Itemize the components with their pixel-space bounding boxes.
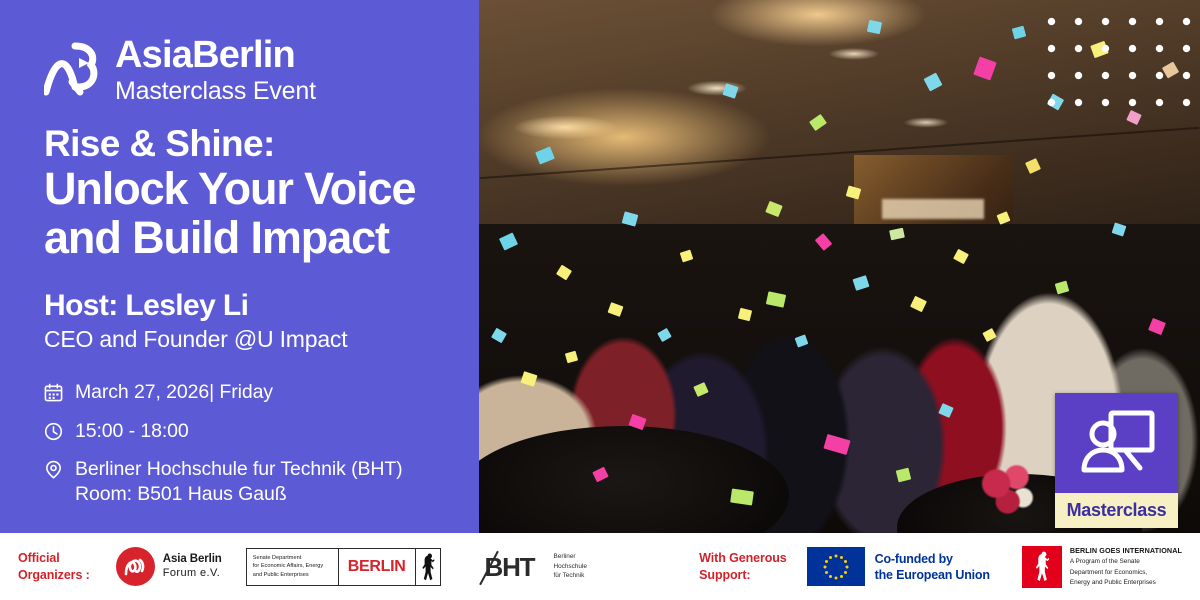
- eu-funding-logo: Co-funded by the European Union: [807, 547, 990, 586]
- berlin-bear-icon: [416, 549, 440, 585]
- title-line-2: Unlock Your Voice: [44, 164, 453, 214]
- detail-date: March 27, 2026| Friday: [44, 380, 453, 405]
- detail-time: 15:00 - 18:00: [44, 419, 453, 444]
- bgi-line1: A Program of the Senate: [1070, 557, 1182, 566]
- bht-line2: Hochschule: [554, 562, 587, 572]
- calendar-icon: [44, 383, 63, 402]
- berlin-goes-international-logo: BERLIN GOES INTERNATIONAL A Program of t…: [1022, 546, 1182, 588]
- senate-department-logo: Senate Department for Economic Affairs, …: [246, 548, 441, 586]
- masterclass-badge-bottom: Masterclass: [1055, 493, 1178, 528]
- photo-flowers: [977, 458, 1042, 522]
- senate-line2: for Economic Affairs, Energy: [253, 562, 332, 570]
- eu-flag-icon: [807, 547, 865, 586]
- masterclass-badge: Masterclass: [1055, 393, 1178, 528]
- title-line-3: and Build Impact: [44, 213, 453, 263]
- asiaberlin-logo-icon: [44, 38, 106, 100]
- polka-dot-overlay: [1030, 0, 1200, 108]
- bgi-line2: Department for Economics,: [1070, 568, 1182, 577]
- eu-line1: Co-funded by: [875, 551, 990, 567]
- senate-line1: Senate Department: [253, 554, 332, 562]
- organizers-label-line2: Organizers :: [18, 567, 90, 583]
- presenter-whiteboard-icon: [1078, 407, 1156, 479]
- bht-line1: Berliner: [554, 552, 587, 562]
- masterclass-label: Masterclass: [1067, 500, 1167, 521]
- detail-location: Berliner Hochschule fur Technik (BHT) Ro…: [44, 457, 453, 507]
- info-panel: AsiaBerlin Masterclass Event Rise & Shin…: [0, 0, 479, 533]
- detail-date-text: March 27, 2026| Friday: [75, 380, 273, 405]
- host-role: CEO and Founder @U Impact: [44, 326, 453, 353]
- berlin-bear-white-icon: [1022, 546, 1062, 588]
- footer-supporters: With Generous Support:: [699, 546, 1200, 588]
- bgi-title: BERLIN GOES INTERNATIONAL: [1070, 546, 1182, 556]
- event-photo: Masterclass: [479, 0, 1200, 533]
- detail-room-text: Room: B501 Haus Gauß: [75, 482, 403, 507]
- event-banner: AsiaBerlin Masterclass Event Rise & Shin…: [0, 0, 1200, 600]
- senate-text: Senate Department for Economic Affairs, …: [247, 549, 339, 585]
- event-title: Rise & Shine: Unlock Your Voice and Buil…: [44, 124, 453, 263]
- detail-venue-text: Berliner Hochschule fur Technik (BHT): [75, 457, 403, 482]
- event-details: March 27, 2026| Friday 15:00 - 18:00 Ber…: [44, 380, 453, 507]
- masterclass-badge-top: [1055, 393, 1178, 493]
- organizers-label-line1: Official: [18, 550, 90, 566]
- detail-time-text: 15:00 - 18:00: [75, 419, 189, 444]
- organizers-label: Official Organizers :: [18, 550, 90, 583]
- bht-logo: BHT Berliner Hochschule für Technik: [485, 552, 587, 582]
- bht-text: Berliner Hochschule für Technik: [554, 552, 587, 582]
- support-label-line1: With Generous: [699, 550, 786, 566]
- asia-berlin-forum-logo: Asia Berlin Forum e.V.: [116, 547, 222, 586]
- asia-berlin-forum-icon: [116, 547, 155, 586]
- footer-organizers: Official Organizers : Asia Berlin Forum …: [0, 547, 587, 586]
- asia-berlin-line2: Forum e.V.: [163, 567, 222, 581]
- clock-icon: [44, 422, 63, 441]
- sponsor-footer: Official Organizers : Asia Berlin Forum …: [0, 533, 1200, 600]
- title-line-1: Rise & Shine:: [44, 124, 453, 164]
- brand-logo: AsiaBerlin Masterclass Event: [44, 36, 453, 104]
- bgi-line3: Energy and Public Enterprises: [1070, 578, 1182, 587]
- location-pin-icon: [44, 460, 63, 479]
- host-name: Host: Lesley Li: [44, 289, 453, 323]
- host-info: Host: Lesley Li CEO and Founder @U Impac…: [44, 289, 453, 353]
- support-label: With Generous Support:: [699, 550, 786, 583]
- support-label-line2: Support:: [699, 567, 786, 583]
- bht-mark: BHT: [485, 552, 547, 582]
- asia-berlin-line1: Asia Berlin: [163, 552, 222, 566]
- eu-line2: the European Union: [875, 567, 990, 583]
- bht-line3: für Technik: [554, 571, 587, 581]
- senate-line3: and Public Enterprises: [253, 571, 332, 579]
- brand-subtitle: Masterclass Event: [115, 79, 316, 104]
- brand-name: AsiaBerlin: [115, 36, 316, 74]
- berlin-wordmark: BERLIN: [339, 549, 416, 585]
